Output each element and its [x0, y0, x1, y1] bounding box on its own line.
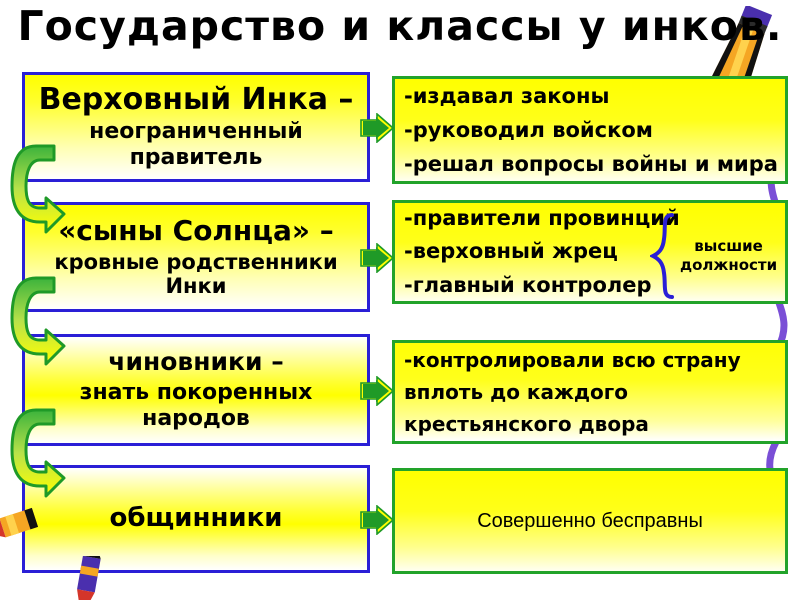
class-subline: правитель [130, 145, 263, 170]
curly-brace-icon [650, 213, 676, 299]
class-heading: чиновники – [108, 349, 283, 375]
class-heading: «сыны Солнца» – [58, 216, 334, 245]
duty-item: -правители провинций [404, 202, 680, 235]
duty-item: вплоть до каждого [404, 376, 628, 408]
arrow-right-icon [360, 376, 394, 406]
duty-item: крестьянского двора [404, 408, 649, 440]
duty-item: Совершенно бесправны [395, 510, 785, 533]
duty-item: -главный контролер [404, 269, 652, 302]
class-subline: неограниченный [89, 119, 303, 144]
annotation-high-offices: высшие должности [650, 208, 790, 304]
duties-box-officials[interactable]: -контролировали всю страну вплоть до каж… [392, 340, 788, 444]
duty-item: -решал вопросы войны и мира [404, 147, 778, 181]
annotation-line: высшие [680, 237, 777, 256]
duty-item: -верховный жрец [404, 235, 618, 268]
class-subline: Инки [165, 274, 226, 298]
class-subline: кровные родственники [54, 250, 337, 274]
class-box-sons-of-sun[interactable]: «сыны Солнца» – кровные родственники Инк… [22, 202, 370, 312]
arrow-right-icon [360, 113, 394, 143]
duties-box-commoners[interactable]: Совершенно бесправны [392, 468, 788, 574]
duties-box-supreme-inca[interactable]: -издавал законы -руководил войском -реша… [392, 76, 788, 184]
class-box-commoners[interactable]: общинники [22, 465, 370, 573]
class-subline: народов [142, 406, 250, 431]
slide-canvas: Государство и классы у инков. [0, 0, 800, 600]
page-title: Государство и классы у инков. [0, 2, 800, 50]
annotation-line: должности [680, 256, 777, 275]
class-box-supreme-inca[interactable]: Верховный Инка – неограниченный правител… [22, 72, 370, 182]
arrow-right-icon [360, 505, 394, 535]
class-box-officials[interactable]: чиновники – знать покоренных народов [22, 334, 370, 446]
curved-arrow-down-icon [6, 140, 68, 236]
class-heading: общинники [110, 505, 283, 532]
curved-arrow-down-icon [6, 272, 68, 368]
curved-arrow-down-icon [6, 404, 68, 500]
class-heading: Верховный Инка – [39, 84, 354, 116]
class-subline: знать покоренных [80, 380, 313, 405]
duty-item: -руководил войском [404, 113, 653, 147]
duty-item: -контролировали всю страну [404, 344, 741, 376]
duty-item: -издавал законы [404, 79, 609, 113]
arrow-right-icon [360, 243, 394, 273]
